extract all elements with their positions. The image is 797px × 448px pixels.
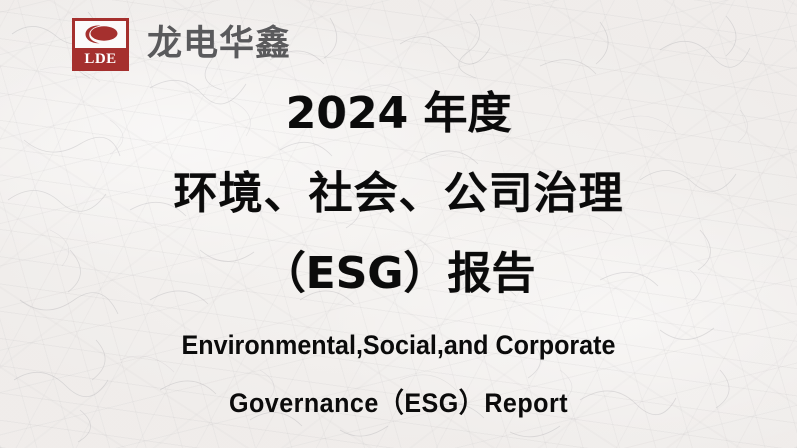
subtitle-line-1: Environmental,Social,and Corporate bbox=[28, 332, 769, 359]
red-crescent-ellipse-icon bbox=[81, 24, 121, 45]
cover-title-block: 2024 年度 环境、社会、公司治理 （ESG）报告 bbox=[0, 92, 797, 296]
title-line-topic: 环境、社会、公司治理 bbox=[0, 172, 797, 216]
company-logo-block: LDE 龙电华鑫 bbox=[72, 18, 291, 71]
lde-logo-mark: LDE bbox=[72, 18, 129, 71]
company-name: 龙电华鑫 bbox=[147, 27, 291, 62]
logo-letters-panel: LDE bbox=[75, 48, 126, 71]
logo-letters: LDE bbox=[84, 52, 116, 67]
subtitle-line-2: Governance（ESG）Report bbox=[28, 390, 769, 417]
title-line-esg-report: （ESG）报告 bbox=[0, 252, 797, 296]
cover-subtitle-block: Environmental,Social,and Corporate Gover… bbox=[0, 332, 797, 417]
title-line-year: 2024 年度 bbox=[0, 92, 797, 136]
report-cover-page: LDE 龙电华鑫 2024 年度 环境、社会、公司治理 （ESG）报告 Envi… bbox=[0, 0, 797, 448]
logo-emblem-panel bbox=[75, 21, 126, 48]
